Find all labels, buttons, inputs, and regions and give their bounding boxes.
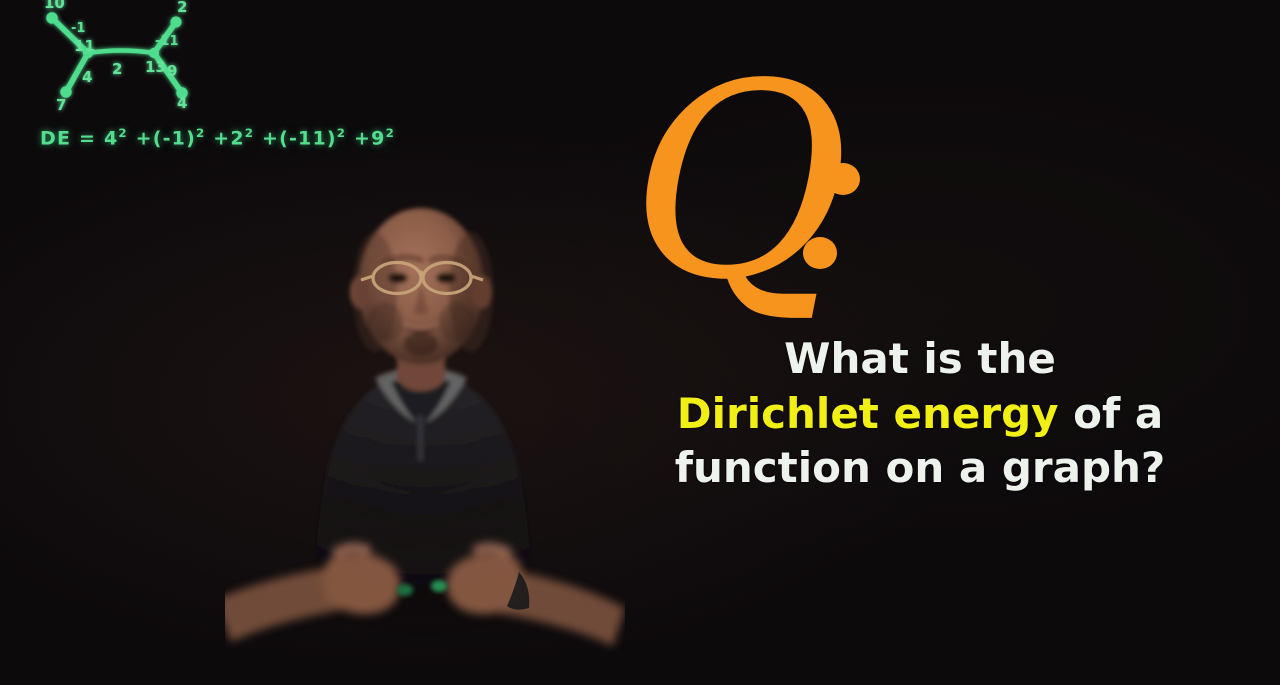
equation-exp-4: 2 — [337, 126, 346, 140]
caption-line-2-suffix: of a — [1059, 389, 1164, 438]
presenter-figure — [225, 200, 625, 685]
graph-node-13 — [149, 48, 158, 57]
equation-exp-2: 2 — [196, 126, 205, 140]
equation-term-2: +(-1) — [136, 127, 196, 149]
caption-line-3: function on a graph? — [640, 441, 1200, 496]
graph-edge-label-2: 2 — [112, 60, 122, 78]
equation-equals: = — [79, 127, 96, 149]
video-frame: 10 11 7 13 2 4 -1 4 2 -11 9 DE = 42 +(-1… — [0, 0, 1280, 685]
equation-exp-5: 2 — [386, 126, 395, 140]
chalkboard-equation: DE = 42 +(-1)2 +22 +(-11)2 +92 — [40, 126, 395, 149]
colon-dot-top-icon — [826, 163, 860, 195]
graph-edge-11-13 — [88, 51, 154, 54]
equation-exp-3: 2 — [245, 126, 254, 140]
caption-highlight-term: Dirichlet energy — [677, 389, 1059, 438]
graph-edge-label-4: 4 — [82, 68, 92, 86]
equation-exp-1: 2 — [118, 126, 127, 140]
letter-q-icon: Q — [630, 49, 850, 317]
equation-label: DE — [40, 127, 71, 149]
graph-node-label-10: 10 — [44, 0, 65, 12]
equation-term-4: +(-11) — [262, 127, 337, 149]
equation-term-3: +2 — [213, 127, 245, 149]
graph-node-label-13: 13 — [145, 58, 166, 76]
graph-node-label-2: 2 — [177, 0, 187, 16]
equation-term-1: 4 — [104, 127, 118, 149]
graph-node-label-7: 7 — [56, 96, 66, 114]
colon-dot-bottom-icon — [803, 237, 837, 269]
graph-node-2 — [171, 17, 181, 27]
caption-line-1: What is the — [640, 332, 1200, 387]
question-caption: What is the Dirichlet energy of a functi… — [640, 332, 1200, 496]
chalkboard-graph: 10 11 7 13 2 4 -1 4 2 -11 9 — [24, 0, 224, 116]
presenter-head — [350, 208, 493, 364]
question-mark-glyph-group: Q — [630, 85, 920, 345]
graph-edge-label-minus11: -11 — [155, 34, 179, 49]
graph-node-10 — [47, 13, 57, 23]
graph-node-label-11: 11 — [74, 37, 95, 55]
graph-node-label-4: 4 — [177, 94, 187, 112]
graph-edge-label-minus1: -1 — [71, 21, 85, 36]
caption-line-2: Dirichlet energy of a — [640, 387, 1200, 442]
equation-term-5: +9 — [354, 127, 386, 149]
graph-edge-label-9: 9 — [167, 62, 177, 80]
presenter-torso — [311, 367, 535, 670]
